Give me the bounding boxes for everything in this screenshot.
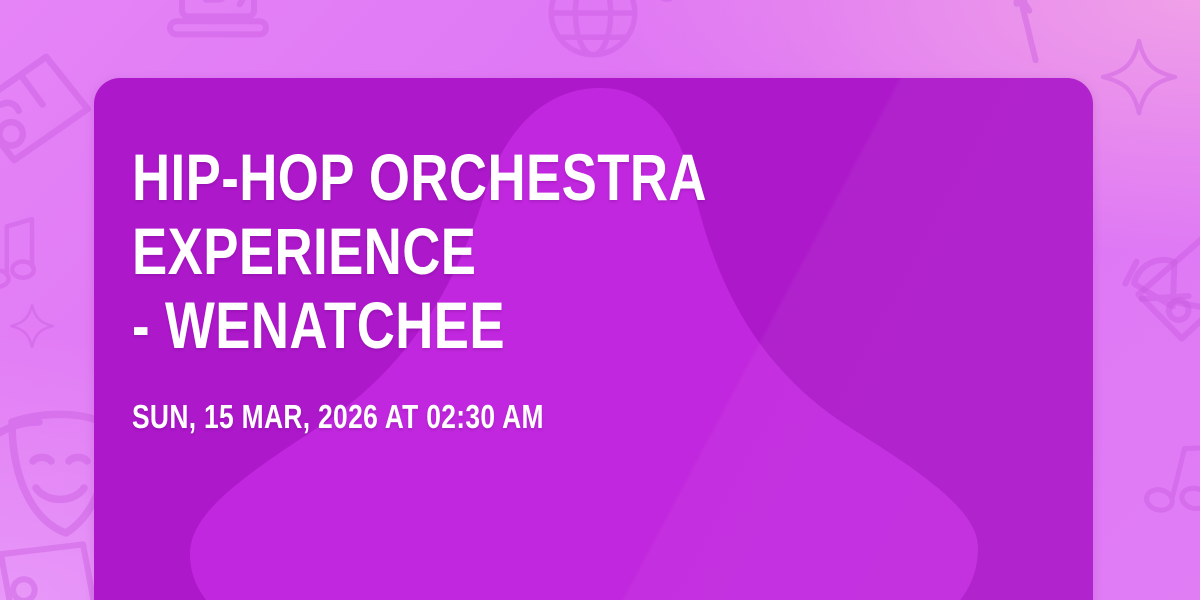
event-date: SUN, 15 MAR, 2026 AT 02:30 AM (132, 398, 869, 436)
event-title: HIP-HOP ORCHESTRA EXPERIENCE - WENATCHEE (132, 140, 869, 362)
card-content: HIP-HOP ORCHESTRA EXPERIENCE - WENATCHEE… (132, 140, 1053, 436)
event-banner: HIP-HOP ORCHESTRA EXPERIENCE - WENATCHEE… (0, 0, 1200, 600)
event-card[interactable]: HIP-HOP ORCHESTRA EXPERIENCE - WENATCHEE… (94, 78, 1093, 600)
